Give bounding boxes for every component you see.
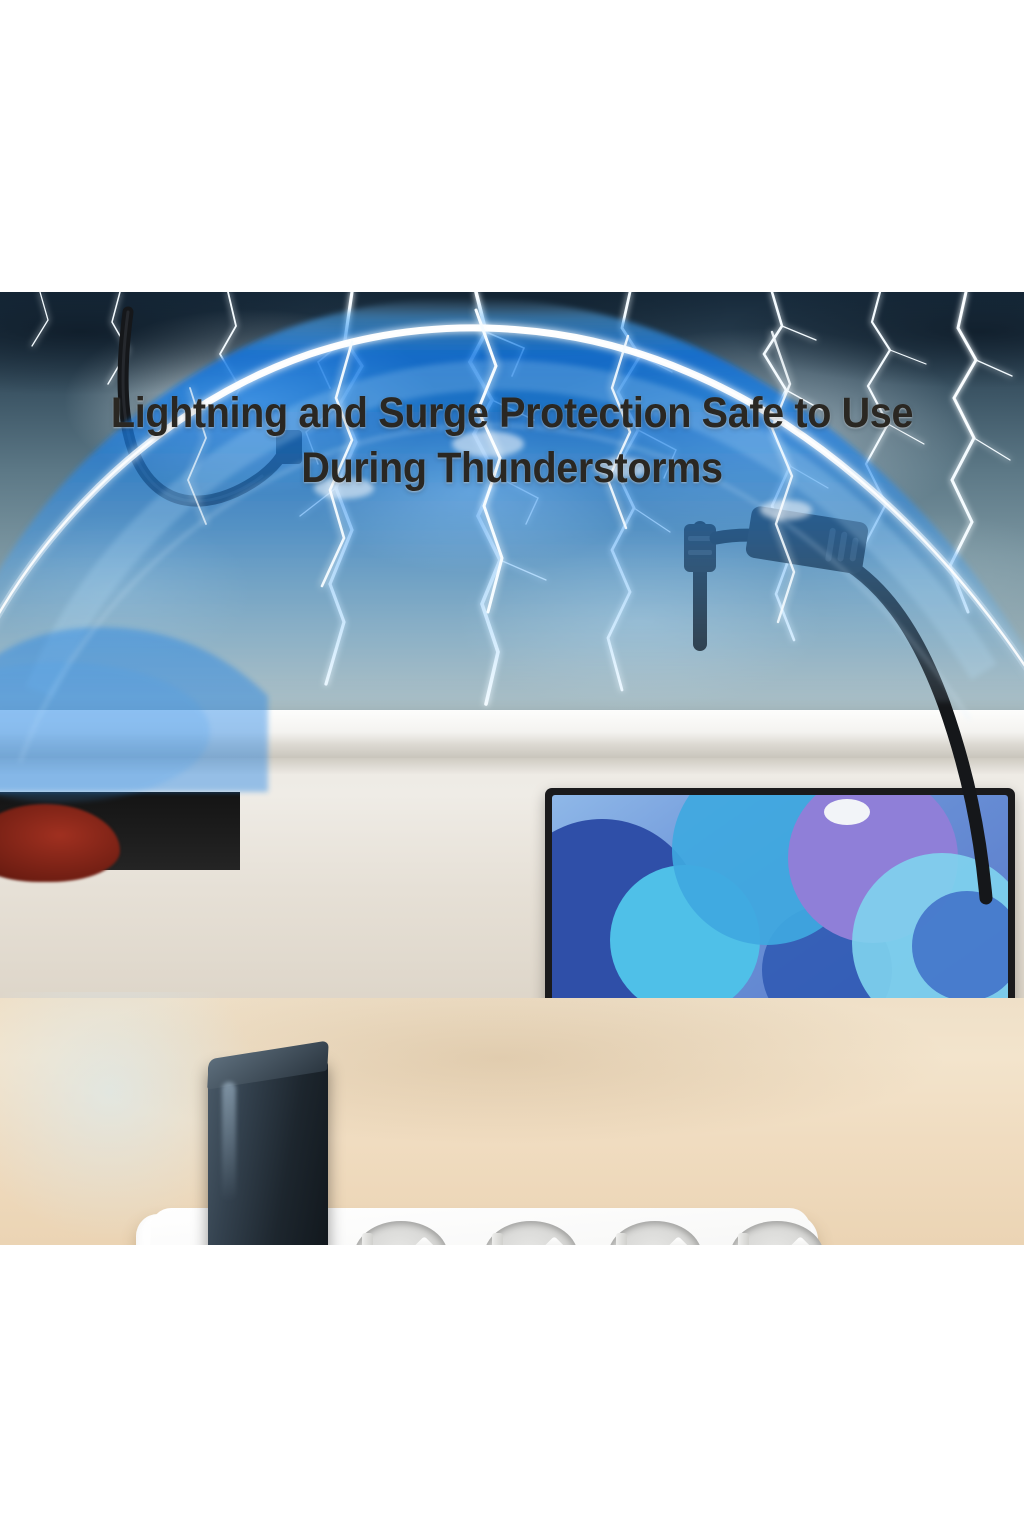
page-title: Lightning and Surge Protection Safe to U… <box>41 386 983 496</box>
headline-line-1: Lightning and Surge Protection Safe to U… <box>41 386 983 441</box>
headline-line-2: During Thunderstorms <box>41 441 983 496</box>
product-marketing-image: Lightning and Surge Protection Safe to U… <box>0 0 1024 1536</box>
product-photo: Lightning and Surge Protection Safe to U… <box>0 292 1024 1245</box>
